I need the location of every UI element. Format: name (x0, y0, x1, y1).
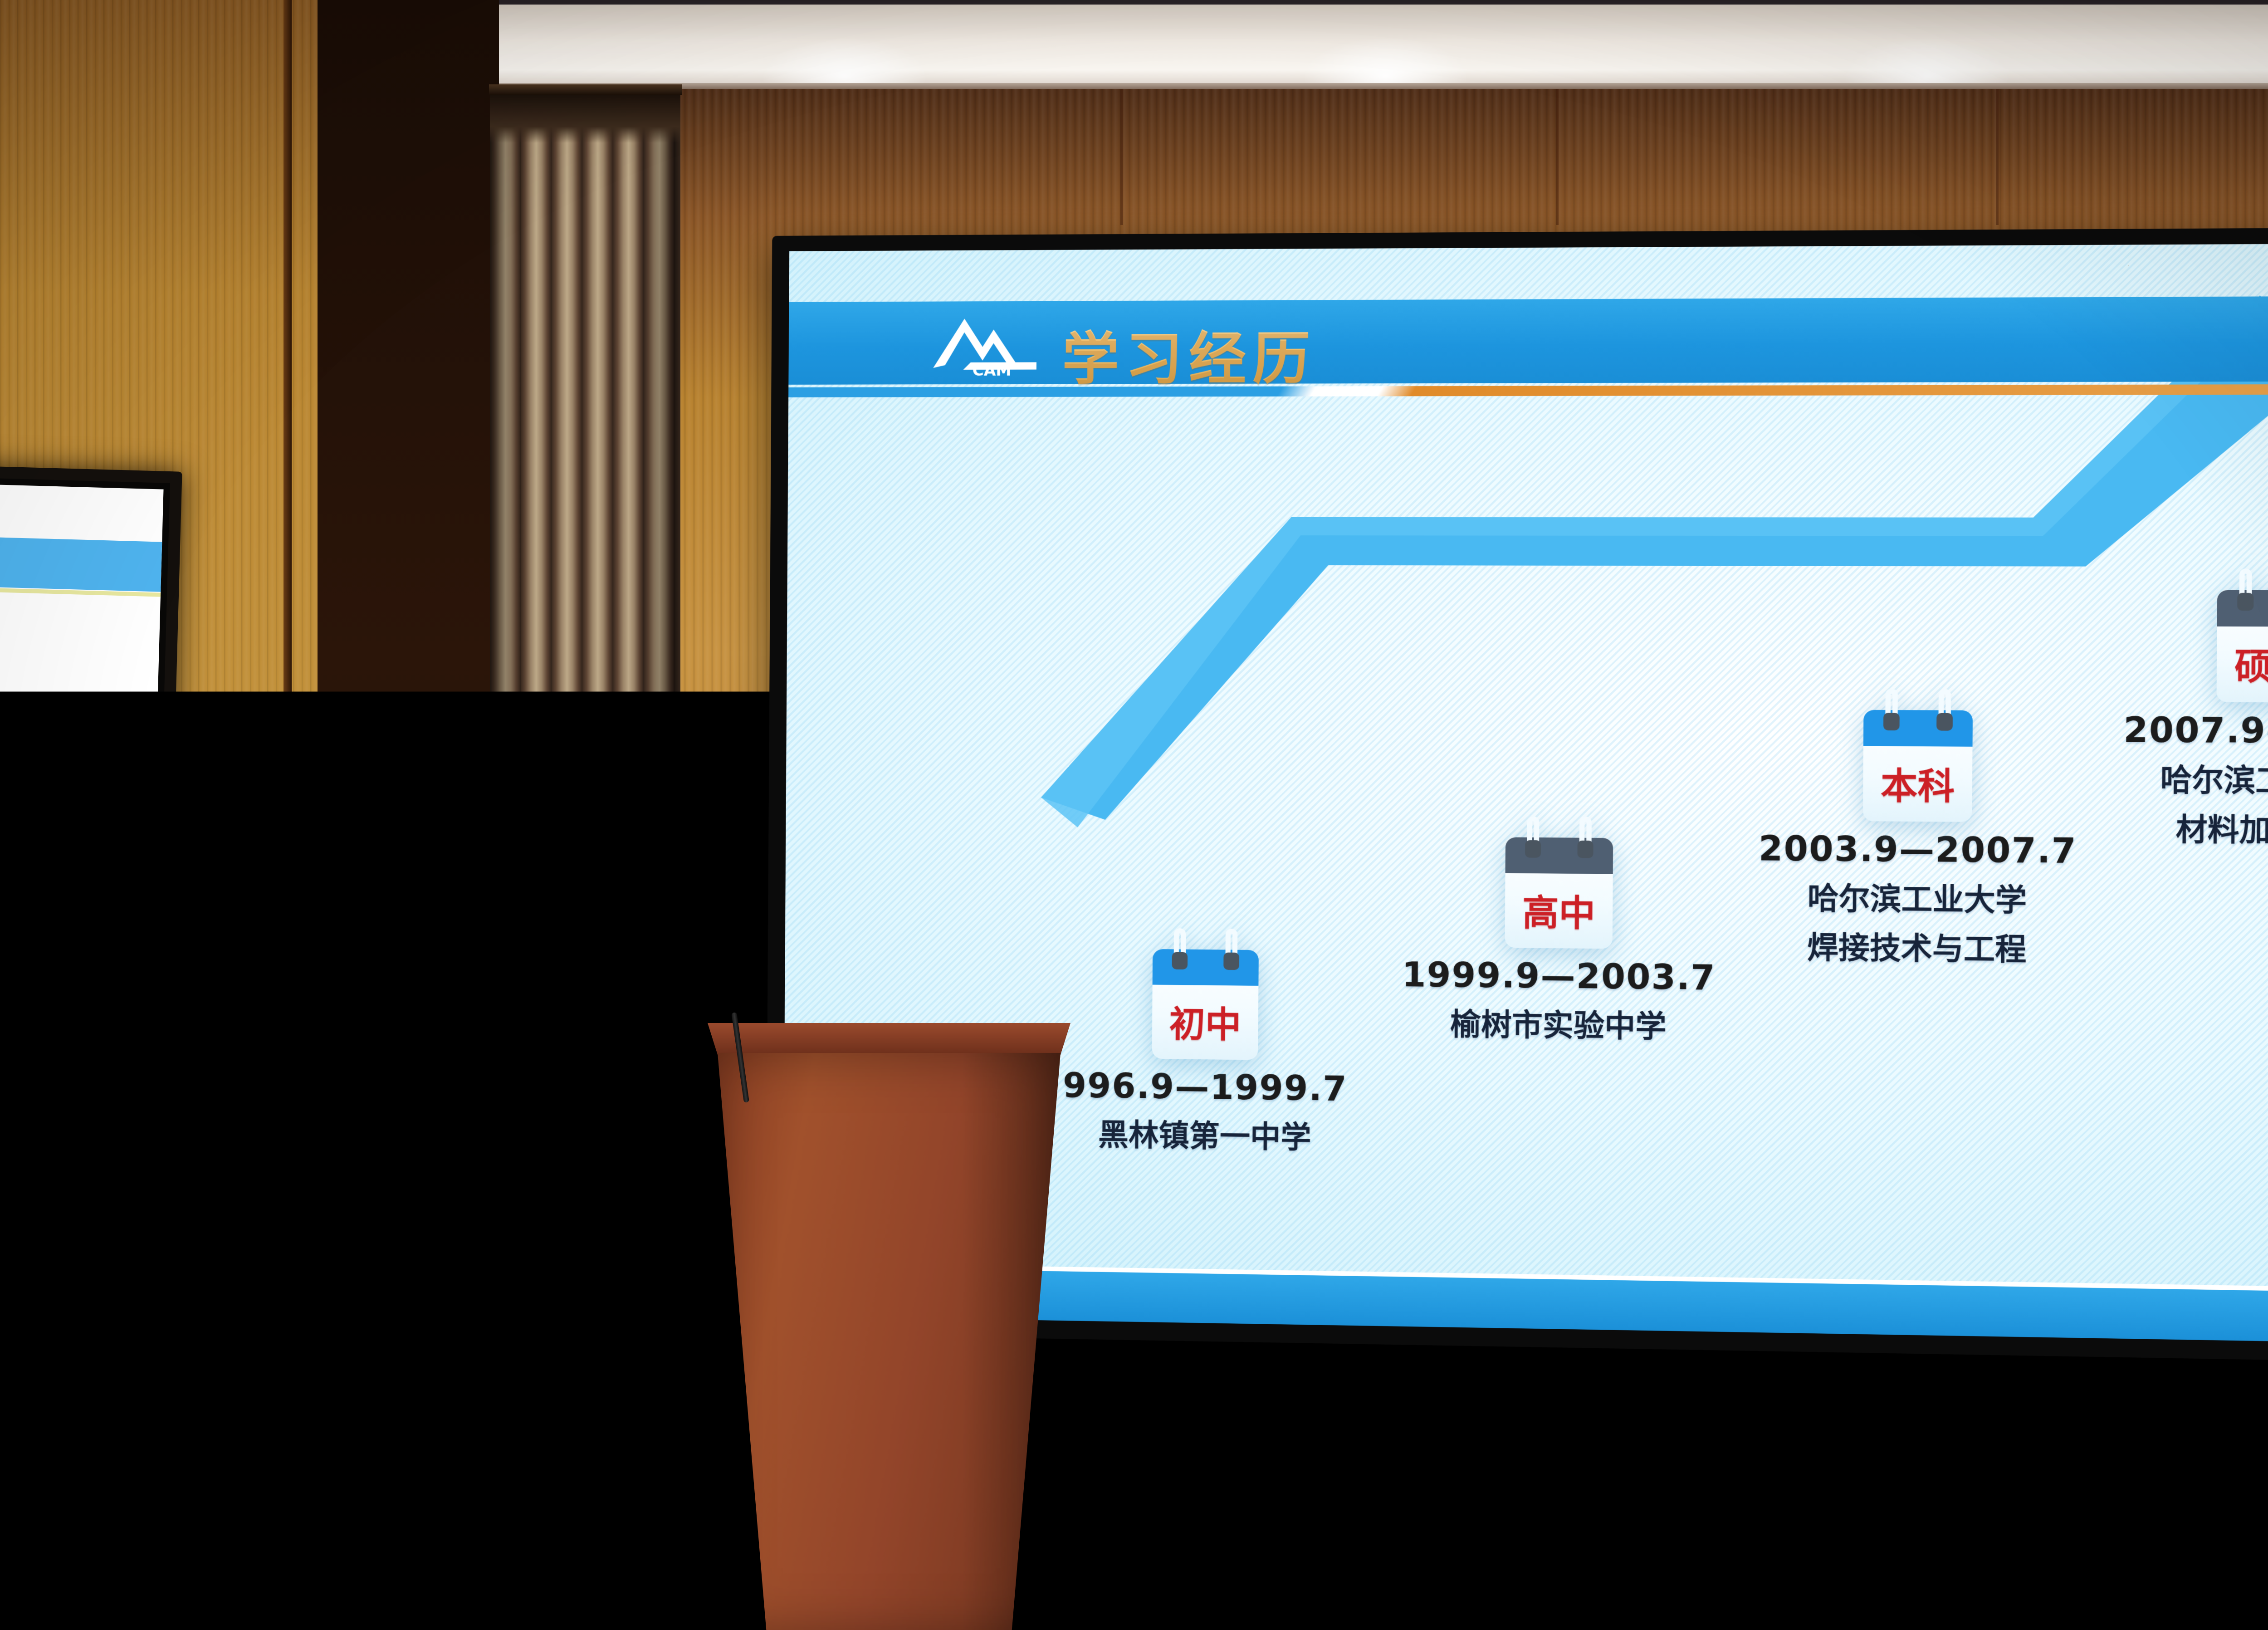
speaker-hair-right (1026, 831, 1049, 885)
speaker-eye-right (1002, 867, 1027, 876)
calendar-badge-label: 硕士 (2217, 638, 2268, 690)
calendar-hole-right (1223, 953, 1239, 970)
timeline-item-2: 高中 1999.9—2003.7 榆树市实验中学 (1381, 832, 1738, 1047)
slide-title: 学习经历 (1062, 312, 1317, 395)
hall-floor-left (0, 1429, 771, 1630)
ceiling-cove-light (497, 5, 2268, 88)
side-slide-header-band (0, 534, 162, 592)
side-monitor: 3.7 学 (0, 463, 182, 1179)
svg-text:CAM: CAM (973, 362, 1012, 379)
calendar-hole-right (1577, 841, 1593, 858)
calendar-hole-left (1883, 713, 1900, 730)
calendar-hole-left (2237, 593, 2253, 611)
calendar-top-bar (1505, 837, 1613, 874)
mountain-logo-icon: CAM (925, 311, 1049, 379)
calendar-badge-label: 本科 (1863, 757, 1972, 810)
timeline-date-2: 1999.9—2003.7 (1381, 955, 1737, 998)
wall-seam-b (1556, 89, 1559, 225)
timeline-major-4: 材料加工工程 (2089, 804, 2268, 851)
wall-seam-a (1120, 89, 1123, 225)
timeline-school-1: 黑林镇第一中学 (1030, 1109, 1380, 1158)
calendar-icon-2: 高中 (1505, 832, 1613, 949)
side-monitor-screen: 3.7 学 (0, 482, 164, 1160)
timeline-item-4: 硕士 2007.9—2009. 哈尔滨工业大学 材料加工工程 (2089, 585, 2268, 852)
presentation-scene: 3.7 学 (0, 0, 2268, 1630)
timeline-school-2: 榆树市实验中学 (1381, 999, 1736, 1047)
calendar-top-bar (1863, 710, 1973, 747)
curtain-rod (489, 84, 682, 95)
podium-side-shadow (962, 1053, 1066, 1630)
timeline-item-3: 本科 2003.9—2007.7 哈尔滨工业大学 焊接技术与工程 (1737, 705, 2099, 970)
timeline-school-4: 哈尔滨工业大学 (2089, 755, 2268, 802)
wall-seam-c (1996, 89, 1999, 225)
stage-curtain (490, 88, 680, 1567)
timeline-date-3: 2003.9—2007.7 (1737, 829, 2098, 871)
left-wall-panel-edge (283, 0, 292, 1630)
calendar-icon-3: 本科 (1863, 705, 1973, 822)
curtain-top-shadow (490, 88, 680, 143)
speaker-nose (981, 878, 994, 906)
speaker-chin-shadow (953, 920, 1025, 945)
calendar-hole-right (1936, 713, 1953, 731)
calendar-icon-4: 硕士 (2216, 585, 2268, 702)
side-slide-footer-band (0, 1132, 146, 1160)
speaker-sleeve-right (1102, 978, 1193, 1091)
podium-desktop (708, 1023, 1070, 1055)
calendar-badge-label: 高中 (1505, 884, 1613, 937)
timeline-major-3: 焊接技术与工程 (1737, 922, 2098, 970)
speaker-podium (708, 1023, 1070, 1630)
speaker-hair-left (927, 832, 949, 887)
timeline-school-3: 哈尔滨工业大学 (1737, 873, 2098, 921)
speaker-eye-left (949, 868, 974, 877)
calendar-hole-left (1525, 840, 1541, 858)
timeline-date-4: 2007.9—2009. (2089, 710, 2268, 752)
